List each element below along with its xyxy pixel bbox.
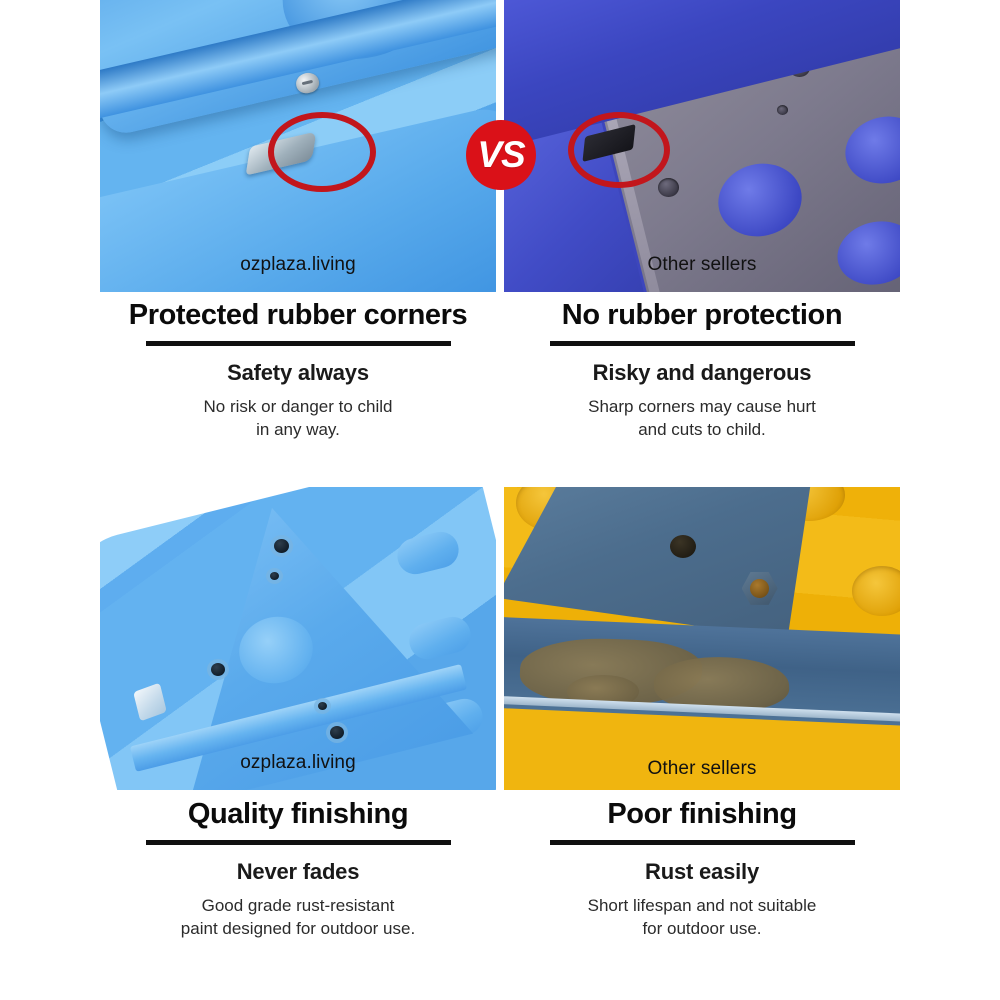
frame-bolt-hole [330,726,344,739]
subhead-theirs: Risky and dangerous [512,360,892,386]
headline-theirs: Poor finishing [512,799,892,831]
headline-theirs: No rubber protection [512,300,892,332]
textblock-theirs-corner-protection: No rubber protection Risky and dangerous… [504,300,900,442]
subhead-ours: Safety always [108,360,488,386]
scene-yellow-table-rusted-frame [504,487,900,790]
body-line-1: Good grade rust-resistant [108,895,488,918]
subhead-theirs: Rust easily [512,859,892,885]
frame-bolt-hole [211,663,225,676]
photo-ours-rubber-corner: ozplaza.living [100,0,496,292]
scene-blue-table-underside [100,487,496,790]
headline-divider [146,840,451,845]
comparison-infographic: ozplaza.living Protected rubber corners … [0,0,1000,1000]
comparison-row-corner-protection: ozplaza.living Protected rubber corners … [0,0,1000,490]
body-line-2: in any way. [108,419,488,442]
body-text-ours: No risk or danger to child in any way. [108,396,488,442]
subhead-ours: Never fades [108,859,488,885]
body-line-1: Sharp corners may cause hurt [512,396,892,419]
panel-theirs-corner-protection: Other sellers No rubber protection Risky… [504,0,900,490]
table-dimple [852,566,900,616]
comparison-row-finishing-quality: ozplaza.living Quality finishing Never f… [0,487,1000,1000]
frame-bolt-hole [318,702,327,710]
headline-divider [550,341,855,346]
panel-ours-corner-protection: ozplaza.living Protected rubber corners … [100,0,496,490]
photo-theirs-poor-finishing: Other sellers [504,487,900,790]
headline-ours: Protected rubber corners [108,300,488,332]
body-line-1: No risk or danger to child [108,396,488,419]
headline-ours: Quality finishing [108,799,488,831]
highlight-ellipse-bare-metal-corner [568,112,670,188]
photo-theirs-bare-metal-corner: Other sellers [504,0,900,292]
body-line-1: Short lifespan and not suitable [512,895,892,918]
textblock-ours-corner-protection: Protected rubber corners Safety always N… [100,300,496,442]
frame-bolt-hole [274,539,289,553]
body-line-2: paint designed for outdoor use. [108,918,488,941]
body-line-2: and cuts to child. [512,419,892,442]
photo-caption-ours: ozplaza.living [100,752,496,774]
photo-caption-theirs: Other sellers [504,254,900,276]
scene-dark-blue-table-metal-corner [504,0,900,292]
body-text-ours: Good grade rust-resistant paint designed… [108,895,488,941]
headline-divider [146,341,451,346]
headline-divider [550,840,855,845]
panel-theirs-finishing-quality: Other sellers Poor finishing Rust easily… [504,487,900,1000]
photo-caption-ours: ozplaza.living [100,254,496,276]
photo-caption-theirs: Other sellers [504,758,900,780]
body-line-2: for outdoor use. [512,918,892,941]
body-text-theirs: Sharp corners may cause hurt and cuts to… [512,396,892,442]
body-text-theirs: Short lifespan and not suitable for outd… [512,895,892,941]
photo-ours-quality-finishing: ozplaza.living [100,487,496,790]
panel-ours-finishing-quality: ozplaza.living Quality finishing Never f… [100,487,496,1000]
textblock-theirs-finishing-quality: Poor finishing Rust easily Short lifespa… [504,799,900,941]
vs-badge-top: VS [466,120,536,190]
highlight-ellipse-rubber-cap [268,112,376,192]
textblock-ours-finishing-quality: Quality finishing Never fades Good grade… [100,799,496,941]
